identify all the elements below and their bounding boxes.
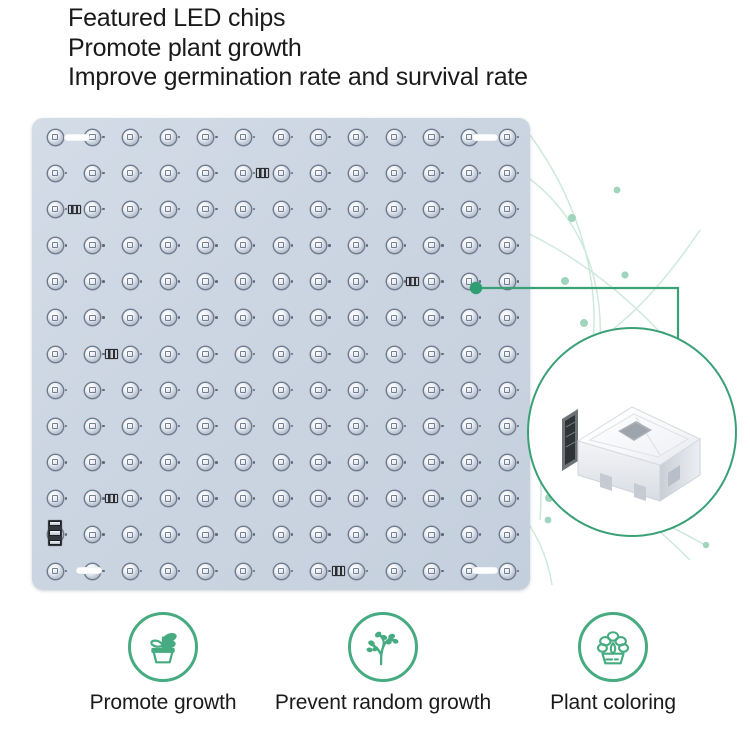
mounting-slot bbox=[76, 567, 102, 574]
led-pad bbox=[424, 491, 439, 506]
led-pad bbox=[198, 383, 213, 398]
led-pad bbox=[387, 274, 402, 289]
led-pad bbox=[349, 238, 364, 253]
led-pad bbox=[161, 238, 176, 253]
led-pad bbox=[161, 202, 176, 217]
led-pad bbox=[500, 347, 515, 362]
led-pad bbox=[424, 166, 439, 181]
led-pad bbox=[236, 419, 251, 434]
led-pad bbox=[85, 202, 100, 217]
feature-label: Plant coloring bbox=[488, 691, 738, 715]
led-pad bbox=[123, 419, 138, 434]
led-pad bbox=[387, 347, 402, 362]
led-pad bbox=[123, 202, 138, 217]
led-pad bbox=[349, 347, 364, 362]
led-pad bbox=[500, 491, 515, 506]
led-pad bbox=[311, 564, 326, 579]
led-pad bbox=[387, 455, 402, 470]
led-pad bbox=[311, 274, 326, 289]
led-pad bbox=[161, 274, 176, 289]
led-pad bbox=[161, 491, 176, 506]
led-pad bbox=[311, 419, 326, 434]
led-pad bbox=[123, 491, 138, 506]
mounting-slot bbox=[472, 134, 498, 141]
feature-label: Prevent random growth bbox=[258, 691, 508, 715]
driver-ic bbox=[256, 168, 269, 178]
led-pad bbox=[424, 383, 439, 398]
driver-ic bbox=[406, 277, 419, 287]
led-pad bbox=[349, 166, 364, 181]
led-pad bbox=[311, 310, 326, 325]
led-pad bbox=[349, 310, 364, 325]
led-pad bbox=[387, 310, 402, 325]
led-pad bbox=[349, 383, 364, 398]
led-pad bbox=[198, 419, 213, 434]
led-pad bbox=[500, 166, 515, 181]
led-pad bbox=[123, 130, 138, 145]
led-grid bbox=[32, 118, 530, 590]
led-pad bbox=[274, 310, 289, 325]
led-pad bbox=[462, 383, 477, 398]
led-pad bbox=[123, 238, 138, 253]
led-panel bbox=[32, 118, 530, 590]
led-pad bbox=[161, 166, 176, 181]
led-pad bbox=[274, 419, 289, 434]
led-pad bbox=[161, 455, 176, 470]
led-pad bbox=[161, 130, 176, 145]
led-pad bbox=[274, 274, 289, 289]
driver-ic bbox=[105, 349, 118, 359]
led-pad bbox=[274, 455, 289, 470]
led-pad bbox=[349, 202, 364, 217]
led-pad bbox=[236, 527, 251, 542]
led-pad bbox=[161, 527, 176, 542]
power-terminal-block bbox=[48, 520, 62, 546]
led-pad bbox=[349, 491, 364, 506]
smd-led-chip-illustration bbox=[548, 357, 716, 507]
mounting-slot bbox=[64, 134, 90, 141]
led-pad bbox=[123, 527, 138, 542]
led-pad bbox=[424, 238, 439, 253]
led-pad bbox=[311, 166, 326, 181]
product-infographic: Featured LED chips Promote plant growth … bbox=[0, 0, 750, 750]
led-pad bbox=[198, 274, 213, 289]
led-pad bbox=[349, 274, 364, 289]
led-pad bbox=[462, 274, 477, 289]
led-pad bbox=[500, 419, 515, 434]
led-pad bbox=[500, 130, 515, 145]
flowering-plant-icon bbox=[578, 612, 648, 682]
headline-line-3: Improve germination rate and survival ra… bbox=[68, 63, 728, 93]
led-pad bbox=[387, 491, 402, 506]
led-pad bbox=[123, 166, 138, 181]
led-pad bbox=[424, 455, 439, 470]
led-pad bbox=[85, 274, 100, 289]
led-pad bbox=[198, 491, 213, 506]
led-pad bbox=[462, 238, 477, 253]
led-pad bbox=[85, 491, 100, 506]
led-pad bbox=[349, 419, 364, 434]
led-pad bbox=[424, 527, 439, 542]
led-pad bbox=[236, 455, 251, 470]
led-pad bbox=[424, 310, 439, 325]
led-pad bbox=[387, 166, 402, 181]
feature-plant-coloring: Plant coloring bbox=[488, 612, 738, 715]
led-pad bbox=[311, 527, 326, 542]
led-pad bbox=[85, 383, 100, 398]
led-pad bbox=[462, 166, 477, 181]
led-pad bbox=[85, 166, 100, 181]
led-pad bbox=[349, 455, 364, 470]
headline-line-2: Promote plant growth bbox=[68, 34, 728, 64]
led-pad bbox=[424, 347, 439, 362]
led-pad bbox=[236, 491, 251, 506]
led-pad bbox=[236, 166, 251, 181]
led-pad bbox=[123, 455, 138, 470]
led-pad bbox=[48, 564, 63, 579]
led-pad bbox=[387, 202, 402, 217]
led-pad bbox=[274, 383, 289, 398]
led-pad bbox=[48, 491, 63, 506]
led-pad bbox=[387, 383, 402, 398]
led-pad bbox=[387, 238, 402, 253]
led-pad bbox=[236, 238, 251, 253]
led-pad bbox=[48, 274, 63, 289]
led-pad bbox=[311, 202, 326, 217]
led-pad bbox=[500, 383, 515, 398]
led-pad bbox=[311, 238, 326, 253]
led-pad bbox=[387, 419, 402, 434]
led-pad bbox=[500, 274, 515, 289]
led-pad bbox=[387, 564, 402, 579]
led-pad bbox=[48, 383, 63, 398]
led-pad bbox=[123, 347, 138, 362]
led-pad bbox=[236, 310, 251, 325]
led-pad bbox=[236, 383, 251, 398]
led-pad bbox=[236, 564, 251, 579]
led-pad bbox=[500, 310, 515, 325]
led-pad bbox=[161, 419, 176, 434]
led-pad bbox=[500, 527, 515, 542]
led-pad bbox=[424, 274, 439, 289]
led-pad bbox=[198, 347, 213, 362]
led-pad bbox=[123, 274, 138, 289]
led-pad bbox=[198, 202, 213, 217]
led-pad bbox=[500, 202, 515, 217]
led-pad bbox=[311, 383, 326, 398]
mounting-slot bbox=[472, 567, 498, 574]
led-pad bbox=[48, 202, 63, 217]
feature-label: Promote growth bbox=[38, 691, 288, 715]
led-pad bbox=[424, 419, 439, 434]
led-pad bbox=[198, 130, 213, 145]
led-pad bbox=[274, 202, 289, 217]
led-pad bbox=[198, 166, 213, 181]
led-pad bbox=[198, 455, 213, 470]
led-pad bbox=[462, 347, 477, 362]
led-pad bbox=[48, 455, 63, 470]
led-pad bbox=[123, 564, 138, 579]
led-pad bbox=[424, 130, 439, 145]
terminal-screw bbox=[49, 540, 60, 545]
led-pad bbox=[236, 202, 251, 217]
led-pad bbox=[274, 238, 289, 253]
led-pad bbox=[462, 419, 477, 434]
led-pad bbox=[48, 238, 63, 253]
led-pad bbox=[236, 347, 251, 362]
led-pad bbox=[387, 527, 402, 542]
led-pad bbox=[48, 166, 63, 181]
led-pad bbox=[500, 238, 515, 253]
driver-ic bbox=[68, 205, 81, 215]
led-pad bbox=[274, 347, 289, 362]
led-pad bbox=[161, 383, 176, 398]
feature-promote-growth: Promote growth bbox=[38, 612, 288, 715]
chip-callout-circle bbox=[527, 327, 737, 537]
led-pad bbox=[85, 238, 100, 253]
driver-ic bbox=[105, 494, 118, 504]
led-pad bbox=[462, 455, 477, 470]
led-pad bbox=[462, 491, 477, 506]
led-pad bbox=[462, 527, 477, 542]
headline-block: Featured LED chips Promote plant growth … bbox=[68, 4, 728, 93]
led-pad bbox=[274, 491, 289, 506]
led-pad bbox=[85, 310, 100, 325]
led-pad bbox=[424, 202, 439, 217]
led-pad bbox=[462, 310, 477, 325]
led-pad bbox=[500, 564, 515, 579]
led-pad bbox=[198, 310, 213, 325]
led-pad bbox=[274, 130, 289, 145]
led-pad bbox=[161, 347, 176, 362]
led-pad bbox=[198, 527, 213, 542]
feature-prevent-random-growth: Prevent random growth bbox=[258, 612, 508, 715]
led-pad bbox=[349, 130, 364, 145]
led-pad bbox=[85, 455, 100, 470]
led-pad bbox=[85, 527, 100, 542]
led-pad bbox=[274, 166, 289, 181]
led-pad bbox=[311, 347, 326, 362]
led-pad bbox=[48, 419, 63, 434]
led-pad bbox=[311, 455, 326, 470]
led-pad bbox=[123, 310, 138, 325]
terminal-screw bbox=[49, 521, 60, 526]
led-pad bbox=[48, 347, 63, 362]
led-pad bbox=[387, 130, 402, 145]
driver-ic bbox=[332, 566, 345, 576]
potted-plant-icon bbox=[128, 612, 198, 682]
led-pad bbox=[424, 564, 439, 579]
led-pad bbox=[198, 564, 213, 579]
led-pad bbox=[462, 202, 477, 217]
led-pad bbox=[123, 383, 138, 398]
led-pad bbox=[500, 455, 515, 470]
led-pad bbox=[349, 564, 364, 579]
headline-line-1: Featured LED chips bbox=[68, 4, 728, 34]
led-pad bbox=[48, 130, 63, 145]
led-pad bbox=[311, 491, 326, 506]
led-pad bbox=[274, 527, 289, 542]
led-pad bbox=[311, 130, 326, 145]
led-pad bbox=[274, 564, 289, 579]
led-pad bbox=[198, 238, 213, 253]
led-pad bbox=[85, 347, 100, 362]
led-pad bbox=[161, 310, 176, 325]
led-pad bbox=[85, 419, 100, 434]
led-pad bbox=[236, 130, 251, 145]
terminal-screw bbox=[49, 530, 60, 535]
led-pad bbox=[236, 274, 251, 289]
led-pad bbox=[349, 527, 364, 542]
led-pad bbox=[48, 310, 63, 325]
sprout-tree-icon bbox=[348, 612, 418, 682]
feature-row: Promote growth bbox=[0, 612, 750, 742]
led-pad bbox=[161, 564, 176, 579]
